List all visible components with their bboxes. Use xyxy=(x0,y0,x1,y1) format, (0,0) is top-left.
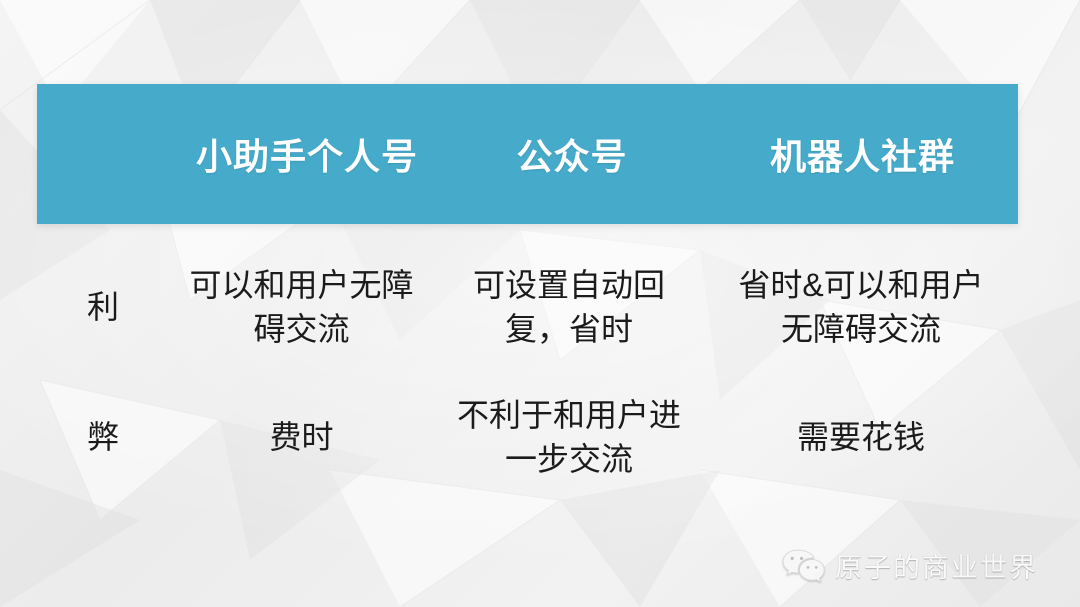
table-header-bot-community: 机器人社群 xyxy=(707,128,1018,180)
watermark: 原子的商业世界 xyxy=(781,546,1038,585)
cell-cons-personal-assistant: 费时 xyxy=(169,416,434,460)
cell-cons-official-account: 不利于和用户进一步交流 xyxy=(434,394,704,481)
cell-text: 费时 xyxy=(269,416,333,460)
row-label-pros: 利 xyxy=(37,286,169,330)
cell-text: 可设置自动回复，省时 xyxy=(444,264,694,351)
slide-canvas: 小助手个人号 公众号 机器人社群 利 可以和用户无障碍交流 可设置自动回复，省时… xyxy=(0,0,1080,607)
table-header-official-account: 公众号 xyxy=(437,128,707,180)
table-row-pros: 利 可以和用户无障碍交流 可设置自动回复，省时 省时&可以和用户无障碍交流 xyxy=(37,238,1018,378)
cell-text: 省时&可以和用户无障碍交流 xyxy=(734,264,989,351)
table-row-cons: 弊 费时 不利于和用户进一步交流 需要花钱 xyxy=(37,378,1018,498)
cell-cons-bot-community: 需要花钱 xyxy=(704,416,1018,460)
cell-text: 需要花钱 xyxy=(797,416,925,460)
wechat-logo-icon xyxy=(781,548,825,584)
cell-text: 可以和用户无障碍交流 xyxy=(177,264,427,351)
table-header-personal-assistant: 小助手个人号 xyxy=(177,128,437,180)
table-header-band: 小助手个人号 公众号 机器人社群 xyxy=(37,84,1018,224)
watermark-text: 原子的商业世界 xyxy=(835,546,1038,585)
cell-pros-bot-community: 省时&可以和用户无障碍交流 xyxy=(704,264,1018,351)
cell-pros-official-account: 可设置自动回复，省时 xyxy=(434,264,704,351)
table-header-row: 小助手个人号 公众号 机器人社群 xyxy=(37,84,1018,224)
cell-text: 不利于和用户进一步交流 xyxy=(444,394,694,481)
table-body: 利 可以和用户无障碍交流 可设置自动回复，省时 省时&可以和用户无障碍交流 弊 … xyxy=(37,238,1018,498)
row-label-cons: 弊 xyxy=(37,416,169,460)
cell-pros-personal-assistant: 可以和用户无障碍交流 xyxy=(169,264,434,351)
